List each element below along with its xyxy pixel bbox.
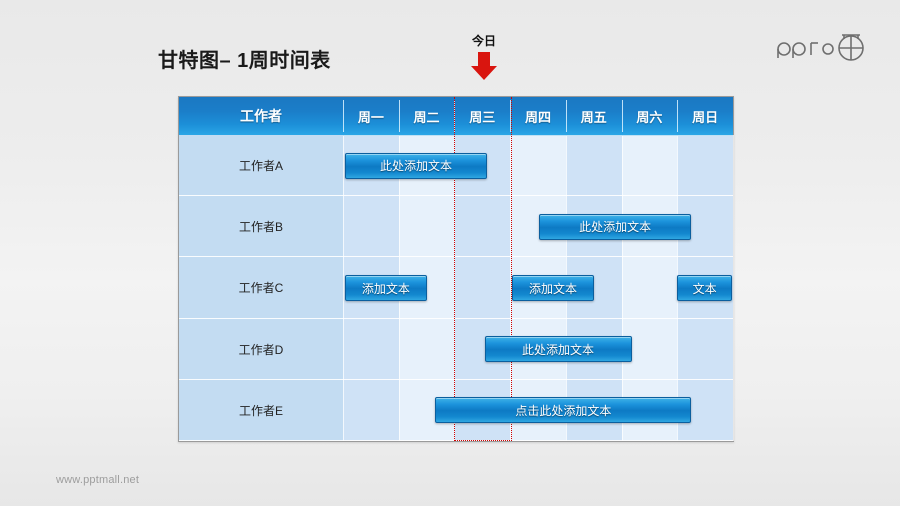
footer-url: www.pptmall.net: [56, 474, 139, 486]
header-cell-周日[interactable]: 周日: [677, 97, 733, 135]
header-cell-周三[interactable]: 周三: [454, 97, 510, 135]
header-cell-周五[interactable]: 周五: [566, 97, 622, 135]
task-bar[interactable]: 此处添加文本: [485, 336, 632, 362]
header-cell-周二[interactable]: 周二: [399, 97, 455, 135]
table-row[interactable]: 工作者C: [179, 257, 733, 318]
header-cell-周六[interactable]: 周六: [622, 97, 678, 135]
down-arrow-icon: [469, 51, 499, 81]
header-separator: [510, 100, 511, 132]
task-bar[interactable]: 点击此处添加文本: [435, 397, 691, 423]
today-marker: 今日: [455, 34, 513, 86]
gantt-header-row: 工作者周一周二周三周四周五周六周日: [179, 97, 733, 136]
gantt-grid: 工作者周一周二周三周四周五周六周日工作者A工作者B工作者C工作者D工作者E此处添…: [179, 97, 733, 441]
row-label-工作者E: 工作者E: [179, 380, 343, 441]
row-label-工作者D: 工作者D: [179, 319, 343, 380]
header-separator: [622, 100, 623, 132]
header-separator: [677, 100, 678, 132]
row-label-工作者B: 工作者B: [179, 196, 343, 257]
task-bar[interactable]: 此处添加文本: [539, 214, 691, 240]
header-separator: [399, 100, 400, 132]
task-bar[interactable]: 此处添加文本: [345, 153, 487, 179]
task-bar[interactable]: 添加文本: [512, 275, 593, 301]
task-bar[interactable]: 添加文本: [345, 275, 426, 301]
task-bar[interactable]: 文本: [677, 275, 732, 301]
header-cell-周四[interactable]: 周四: [510, 97, 566, 135]
row-divider: [179, 440, 733, 441]
header-separator: [454, 100, 455, 132]
gantt-chart: 工作者周一周二周三周四周五周六周日工作者A工作者B工作者C工作者D工作者E此处添…: [178, 96, 734, 442]
today-label: 今日: [455, 34, 513, 48]
header-separator: [566, 100, 567, 132]
column-separator: [733, 135, 734, 441]
row-label-工作者C: 工作者C: [179, 257, 343, 318]
header-cell-周一[interactable]: 周一: [343, 97, 399, 135]
header-separator: [343, 100, 344, 132]
row-label-工作者A: 工作者A: [179, 135, 343, 196]
table-row[interactable]: 工作者D: [179, 319, 733, 380]
header-cell-worker[interactable]: 工作者: [179, 97, 343, 135]
page-title: 甘特图– 1周时间表: [158, 44, 331, 73]
pptmall-logo: PPT: [768, 28, 878, 62]
